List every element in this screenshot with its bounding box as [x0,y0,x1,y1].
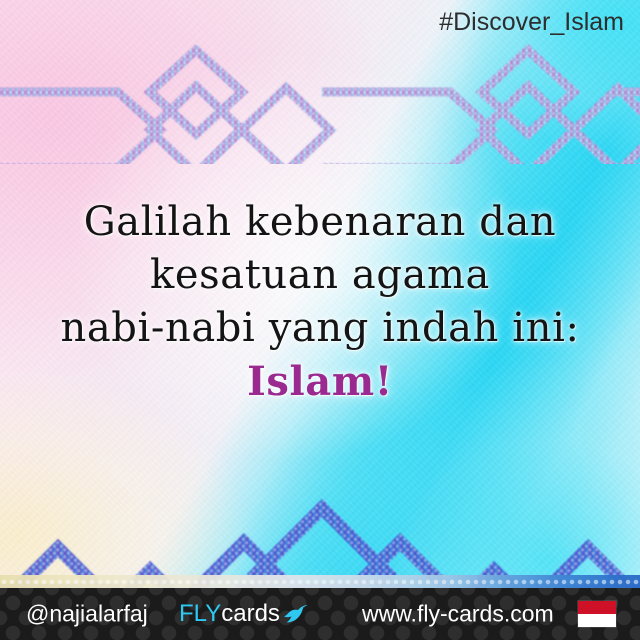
quote-accent-word: Islam! [0,355,640,408]
brand-cards-text: cards [221,600,280,628]
quote-line-1: Galilah kebenaran dan [0,196,640,249]
footer-content: @najialarfaj FLY cards www.fly-cards.com [0,588,640,640]
flag-white-band [578,614,616,627]
bird-icon [283,604,309,624]
flag-red-band [578,601,616,614]
discover-islam-card: #Discover_Islam Galilah kebenaran dan ke… [0,0,640,640]
social-handle[interactable]: @najialarfaj [26,601,148,628]
hashtag-label: #Discover_Islam [439,8,624,37]
quote-line-3: nabi-nabi yang indah ini: [0,302,640,355]
quote-line-2: kesatuan agama [0,249,640,302]
decorative-strip [0,575,640,588]
website-url[interactable]: www.fly-cards.com [362,601,554,628]
flycards-logo[interactable]: FLY cards [179,600,309,628]
footer-bar: @najialarfaj FLY cards www.fly-cards.com [0,588,640,640]
quote-block: Galilah kebenaran dan kesatuan agama nab… [0,196,640,408]
indonesia-flag-icon [578,601,616,627]
brand-fly-text: FLY [179,600,221,628]
